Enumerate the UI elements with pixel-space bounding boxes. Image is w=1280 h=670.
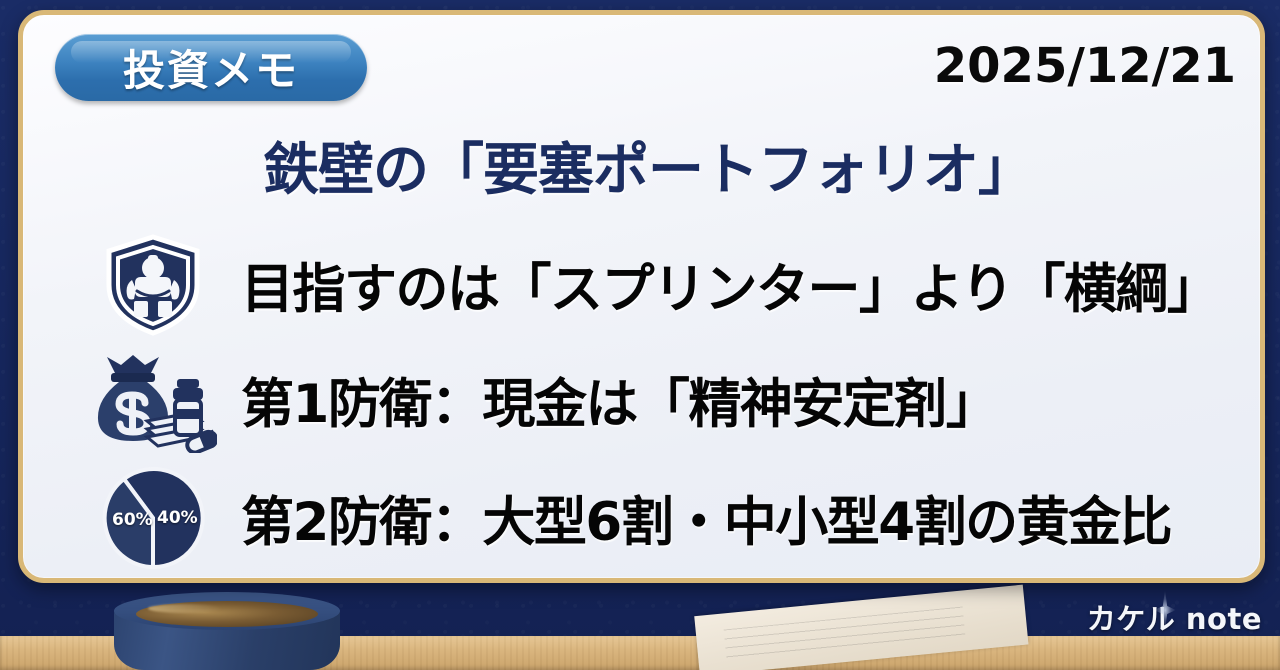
money-bag-medicine-icon (83, 345, 223, 455)
pie-chart: 60% 40% (101, 466, 205, 570)
bullet-row: 60% 40% 第2防衛：大型6割・中小型4割の黄金比 (83, 463, 1263, 573)
coffee-mug (114, 592, 340, 670)
bullet-text: 目指すのは「スプリンター」より「横綱」 (241, 247, 1218, 323)
shield-sumo-icon (83, 230, 223, 340)
channel-watermark: カケル note (1087, 596, 1262, 638)
bullet-text: 第2防衛：大型6割・中小型4割の黄金比 (241, 480, 1171, 556)
watermark-label: カケル note (1087, 596, 1262, 638)
bullet-text: 第1防衛：現金は「精神安定剤」 (241, 362, 997, 438)
mug-coffee-highlight (148, 604, 222, 613)
memo-card: 投資メモ 2025/12/21 鉄壁の「要塞ポートフォリオ」 (18, 10, 1265, 583)
memo-badge-label: 投資メモ (123, 37, 299, 98)
paper-text-lines (724, 607, 966, 662)
pie-slice-label: 40% (157, 508, 198, 528)
pie-chart-icon: 60% 40% (83, 463, 223, 573)
memo-badge: 投資メモ (55, 34, 367, 101)
pie-slice-label: 60% (112, 510, 153, 530)
bullet-row: 目指すのは「スプリンター」より「横綱」 (83, 230, 1263, 340)
bullet-row: 第1防衛：現金は「精神安定剤」 (83, 345, 1263, 455)
page-title: 鉄壁の「要塞ポートフォリオ」 (263, 125, 1033, 206)
memo-date: 2025/12/21 (934, 38, 1236, 94)
